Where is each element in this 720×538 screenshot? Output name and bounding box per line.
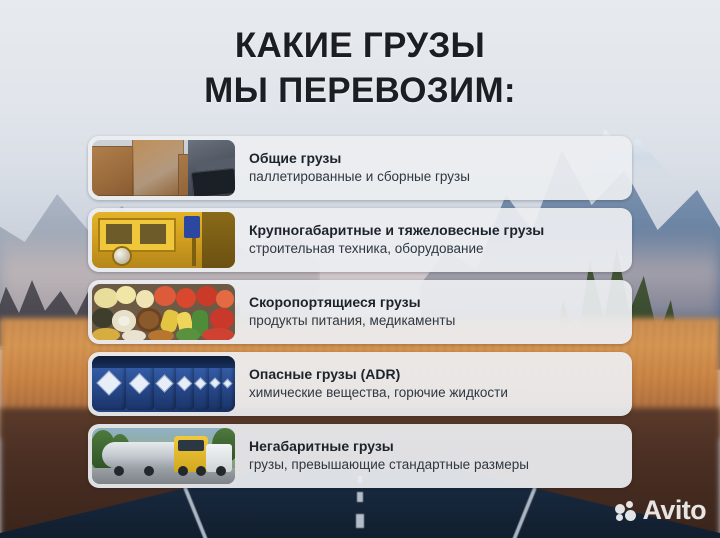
road-center-dash [356,514,364,528]
cargo-thumbnail-perishable-food [92,284,235,340]
cargo-subtitle: химические вещества, горючие жидкости [249,384,508,403]
cargo-text-block: Негабаритные грузы грузы, превышающие ст… [249,437,537,475]
cargo-title: Опасные грузы (ADR) [249,365,508,383]
cargo-thumbnail-general [92,140,235,196]
cargo-subtitle: строительная техника, оборудование [249,240,544,259]
cargo-thumbnail-oversized-truck [92,428,235,484]
cargo-text-block: Крупногабаритные и тяжеловесные грузы ст… [249,221,552,259]
avito-dots-icon [615,501,637,521]
cargo-subtitle: грузы, превышающие стандартные размеры [249,456,529,475]
list-item[interactable]: Общие грузы паллетированные и сборные гр… [88,136,632,200]
list-item[interactable]: Негабаритные грузы грузы, превышающие ст… [88,424,632,488]
cargo-thumbnail-adr-dangerous [92,356,235,412]
cargo-title: Общие грузы [249,149,470,167]
title-line-1: КАКИЕ ГРУЗЫ [235,26,485,65]
list-item[interactable]: Опасные грузы (ADR) химические вещества,… [88,352,632,416]
avito-watermark: Avito [615,497,707,524]
cargo-subtitle: продукты питания, медикаменты [249,312,455,331]
cargo-text-block: Скоропортящиеся грузы продукты питания, … [249,293,463,331]
list-item[interactable]: Крупногабаритные и тяжеловесные грузы ст… [88,208,632,272]
cargo-text-block: Общие грузы паллетированные и сборные гр… [249,149,478,187]
cargo-title: Крупногабаритные и тяжеловесные грузы [249,221,544,239]
cargo-thumbnail-oversize-machinery [92,212,235,268]
promo-poster: КАКИЕ ГРУЗЫ МЫ ПЕРЕВОЗИМ: Общие грузы па… [0,0,720,538]
cargo-title: Скоропортящиеся грузы [249,293,455,311]
list-item[interactable]: Скоропортящиеся грузы продукты питания, … [88,280,632,344]
title-line-2: МЫ ПЕРЕВОЗИМ: [0,69,720,114]
cargo-text-block: Опасные грузы (ADR) химические вещества,… [249,365,516,403]
cargo-title: Негабаритные грузы [249,437,529,455]
cargo-type-list: Общие грузы паллетированные и сборные гр… [88,136,632,496]
page-title: КАКИЕ ГРУЗЫ МЫ ПЕРЕВОЗИМ: [0,24,720,114]
cargo-subtitle: паллетированные и сборные грузы [249,168,470,187]
avito-brand-text: Avito [643,497,707,524]
